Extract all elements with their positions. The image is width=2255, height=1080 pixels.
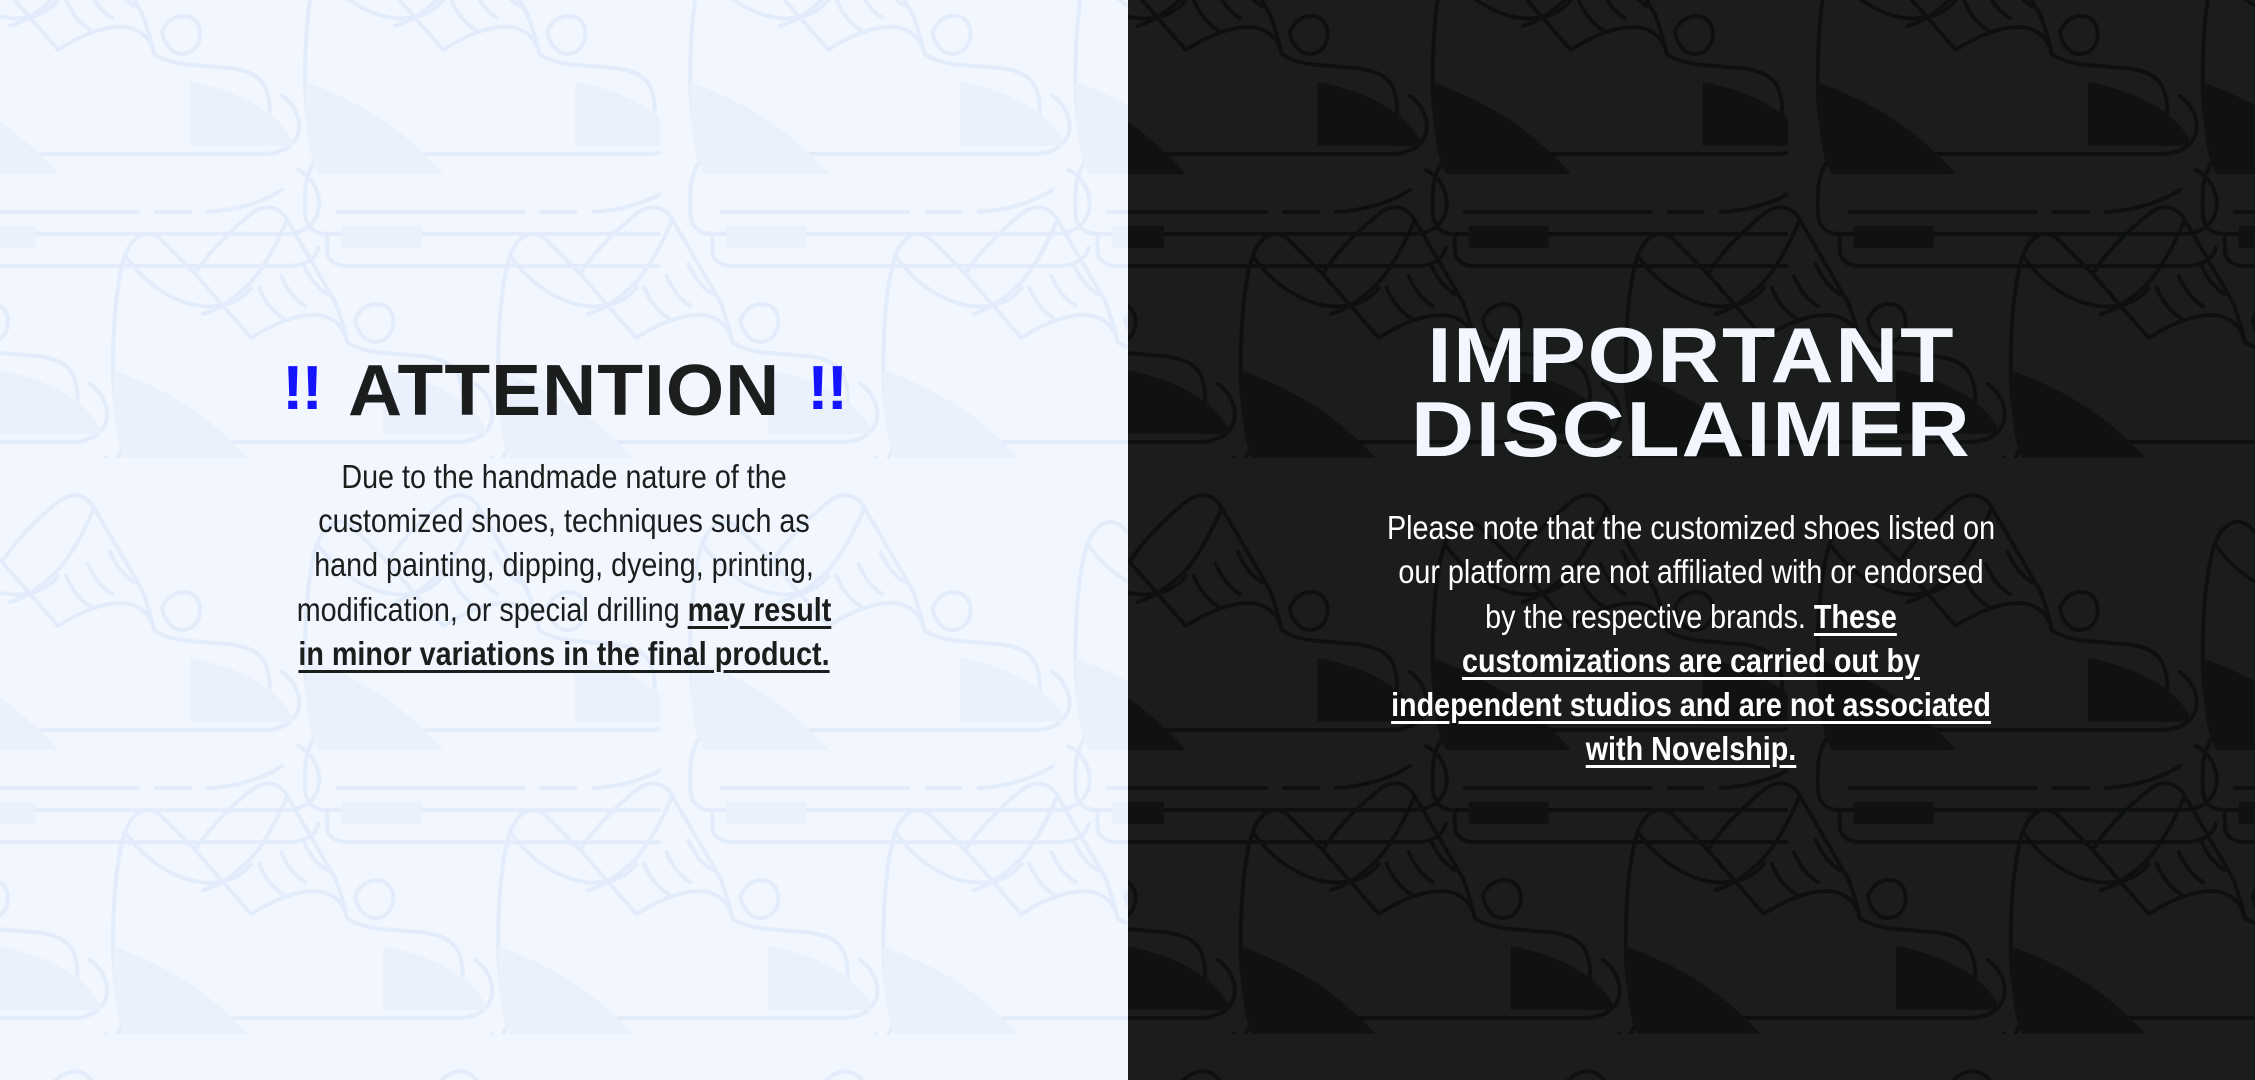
disclaimer-body: Please note that the customized shoes li… bbox=[1387, 506, 1996, 771]
disclaimer-heading: IMPORTANT DISCLAIMER bbox=[1411, 318, 1971, 466]
disclaimer-heading-line2: DISCLAIMER bbox=[1411, 385, 1971, 473]
attention-body: Due to the handmade nature of the custom… bbox=[285, 455, 842, 676]
attention-content: !! ATTENTION !! Due to the handmade natu… bbox=[0, 0, 1128, 676]
disclaimer-body-plain: Please note that the customized shoes li… bbox=[1387, 509, 1995, 634]
disclaimer-content: IMPORTANT DISCLAIMER Please note that th… bbox=[1128, 0, 2255, 772]
disclaimer-panel: IMPORTANT DISCLAIMER Please note that th… bbox=[1128, 0, 2255, 1080]
attention-heading-text: ATTENTION bbox=[348, 355, 780, 427]
disclaimer-banner: !! ATTENTION !! Due to the handmade natu… bbox=[0, 0, 2255, 1080]
attention-heading: !! ATTENTION !! bbox=[282, 355, 846, 427]
double-exclamation-right-icon: !! bbox=[807, 358, 846, 420]
double-exclamation-left-icon: !! bbox=[282, 358, 321, 420]
attention-panel: !! ATTENTION !! Due to the handmade natu… bbox=[0, 0, 1128, 1080]
